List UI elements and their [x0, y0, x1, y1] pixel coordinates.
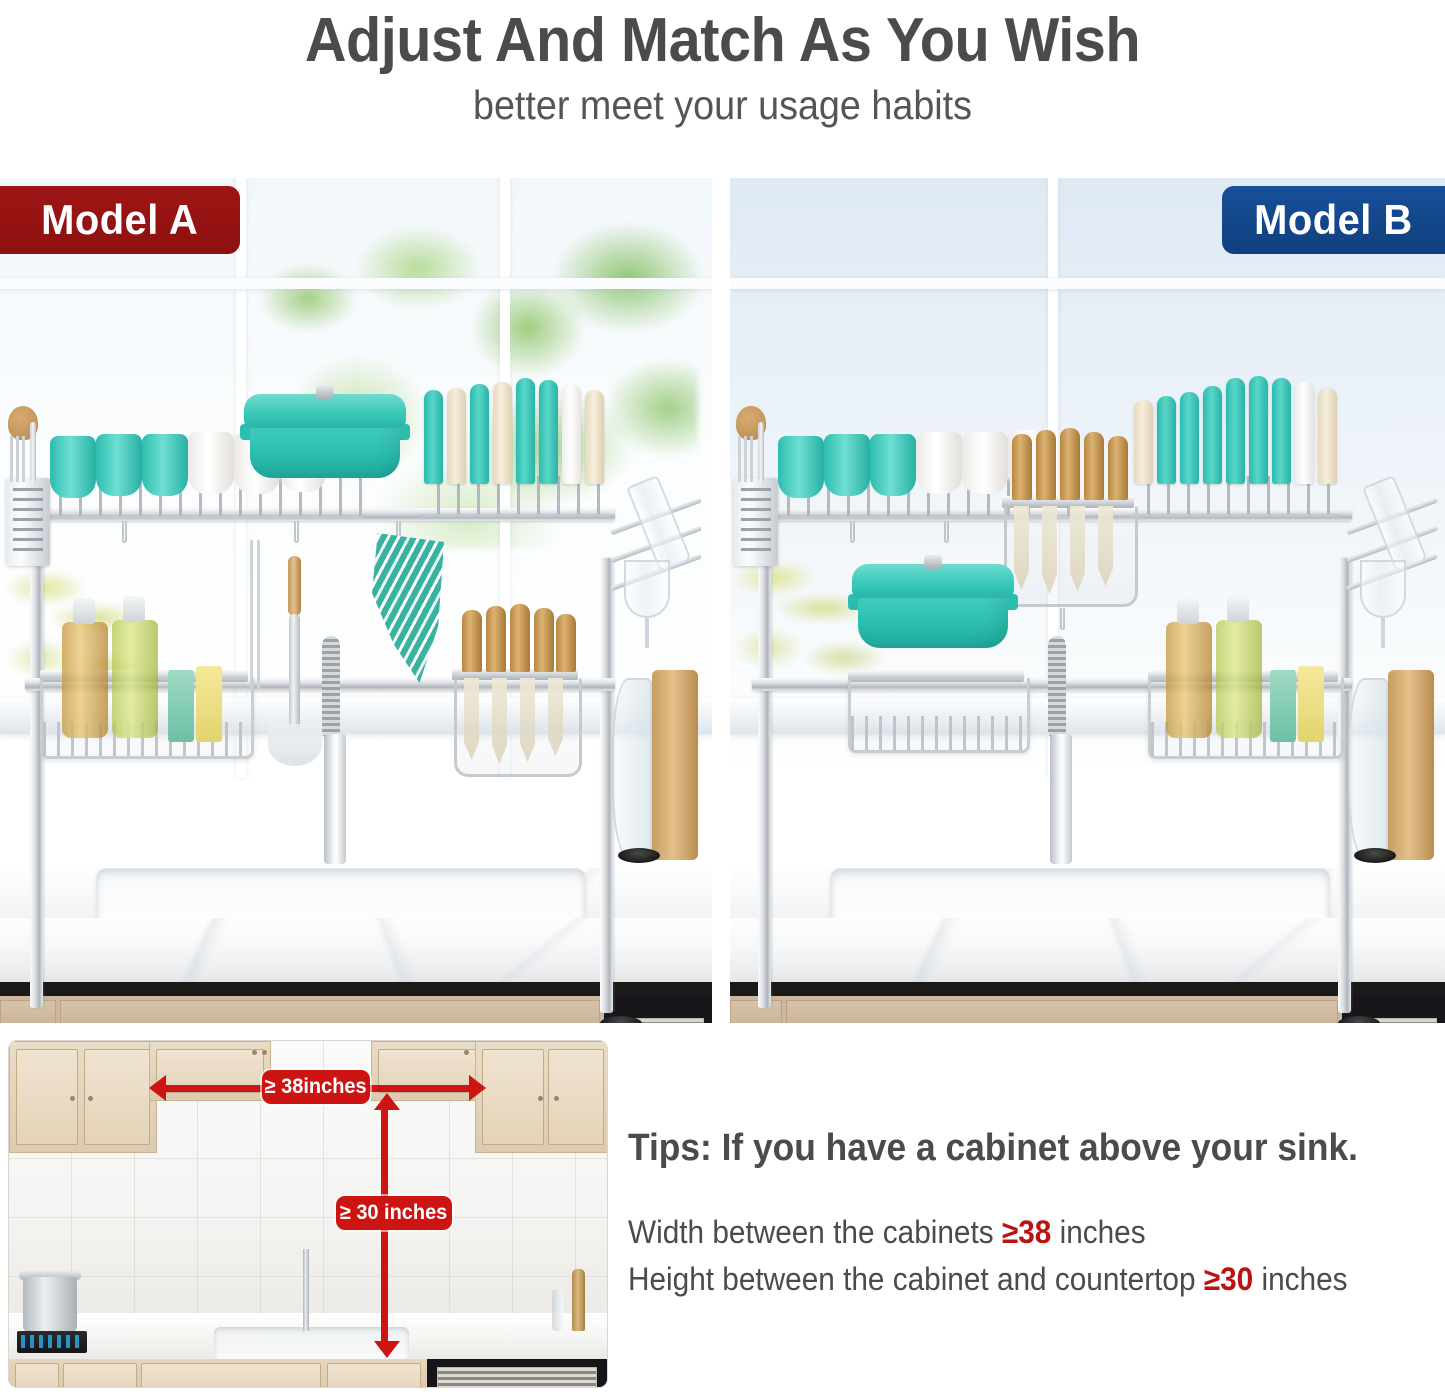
- pump-dispenser: [1227, 596, 1249, 622]
- cabinet-door: [482, 1049, 544, 1145]
- tips-title: Tips: If you have a cabinet above your s…: [628, 1127, 1381, 1170]
- knife-handle: [1036, 430, 1056, 500]
- knife-handle: [556, 614, 576, 672]
- plate-teal: [470, 384, 489, 484]
- model-a-photo: [0, 178, 712, 1023]
- bowl-teal: [142, 434, 188, 496]
- model-a-badge: Model A: [0, 186, 240, 254]
- pump-dispenser: [123, 596, 145, 622]
- bowl-teal: [824, 434, 870, 496]
- rack-leg-left: [758, 508, 771, 1008]
- wire-basket: [848, 678, 1030, 753]
- tips-height-line: Height between the cabinet and counterto…: [628, 1261, 1381, 1298]
- cabinet-door: [84, 1049, 150, 1145]
- pump-dispenser: [1177, 598, 1199, 624]
- plate-teal: [1203, 386, 1222, 484]
- utensil-holder: [6, 478, 50, 566]
- page-title: Adjust And Match As You Wish: [51, 4, 1395, 78]
- soap-bottle-amber: [1166, 622, 1212, 738]
- bowl-white: [962, 432, 1008, 494]
- soap-bottle-lime: [1216, 620, 1262, 738]
- wine-glass-stem: [645, 618, 649, 648]
- upper-cabinet-mid-left: [149, 1041, 271, 1101]
- model-b-photo: [730, 178, 1445, 1023]
- knife-handle: [1084, 432, 1104, 500]
- cabinet-door: [327, 1363, 421, 1388]
- cabinet-knob: [262, 1050, 267, 1055]
- width-measure-label: ≥ 38inches: [265, 1075, 367, 1099]
- model-b-panel: Model B: [730, 178, 1445, 1023]
- cabinet-knob: [252, 1050, 257, 1055]
- plate-cream: [1134, 400, 1153, 484]
- tips-height-suffix: inches: [1253, 1261, 1347, 1297]
- rack-leg-left: [30, 508, 43, 1008]
- ladle-wood-handle: [288, 556, 301, 616]
- sponge-green: [168, 670, 194, 742]
- tips-width-line: Width between the cabinets ≥38 inches: [628, 1214, 1381, 1251]
- bowl-teal: [870, 434, 916, 496]
- arrow-right-icon: [469, 1075, 486, 1101]
- knife-handle: [462, 610, 482, 672]
- tips-width-suffix: inches: [1051, 1214, 1145, 1250]
- arrow-up-icon: [374, 1093, 400, 1110]
- window-mullion: [730, 278, 1445, 289]
- pot-lid: [852, 564, 1014, 598]
- knife-handle: [1012, 434, 1032, 500]
- cabinet-door: [63, 1363, 137, 1388]
- cabinet-knob: [464, 1050, 469, 1055]
- bowl-white: [916, 432, 962, 494]
- cabinet-door: [16, 1049, 78, 1145]
- pot-knob: [924, 555, 942, 569]
- bowl-teal: [50, 436, 96, 498]
- teal-dutch-oven-pot: [858, 560, 1008, 678]
- height-measure-badge: ≥ 30 inches: [336, 1196, 452, 1230]
- tips-lines: Width between the cabinets ≥38 inches He…: [628, 1214, 1438, 1298]
- utensil-handle: [30, 422, 36, 482]
- soap-bottle-amber: [62, 622, 108, 738]
- plate-teal: [1180, 392, 1199, 484]
- arrow-down-icon: [374, 1341, 400, 1358]
- teal-dutch-oven-pot: [250, 390, 400, 508]
- plate-teal: [1157, 396, 1176, 484]
- knife-handle: [486, 606, 506, 672]
- plate-teal: [1226, 378, 1245, 484]
- upper-cabinet-left: [9, 1041, 157, 1153]
- header: Adjust And Match As You Wish better meet…: [0, 0, 1445, 172]
- knife-handle: [1060, 428, 1080, 500]
- pump-dispenser: [73, 598, 95, 624]
- faucet-spring-neck: [322, 636, 340, 740]
- cabinet-door: [141, 1363, 321, 1388]
- tips-height-prefix: Height between the cabinet and counterto…: [628, 1261, 1204, 1297]
- wine-glass-stem: [1381, 618, 1385, 648]
- fork-icon: [738, 436, 754, 482]
- cabinet-drawer: [60, 1000, 600, 1023]
- rack-hook: [1060, 608, 1065, 630]
- rack-hook: [944, 521, 949, 543]
- dishwasher-unit: [427, 1359, 607, 1388]
- ladle-bowl: [268, 724, 322, 766]
- wine-glass: [624, 560, 670, 618]
- dishwasher-vent: [437, 1367, 597, 1388]
- bowl-teal: [96, 434, 142, 496]
- plate-white: [562, 384, 581, 484]
- pot-lid: [244, 394, 406, 428]
- wine-glass: [1360, 560, 1406, 618]
- sponge-green: [1270, 670, 1296, 742]
- tips-height-value: ≥30: [1204, 1261, 1253, 1297]
- plate-teal: [1272, 378, 1291, 484]
- tips-width-prefix: Width between the cabinets: [628, 1214, 1002, 1250]
- model-a-label: Model A: [41, 196, 198, 244]
- tips-section: ≥ 38inches ≥ 30 inches Tips: If you have…: [0, 1035, 1445, 1394]
- tips-width-value: ≥38: [1002, 1214, 1051, 1250]
- width-measure-badge: ≥ 38inches: [262, 1070, 370, 1104]
- faucet-body: [1050, 734, 1072, 864]
- pepper-grinder: [572, 1269, 585, 1331]
- gas-flame: [21, 1335, 79, 1348]
- model-b-label: Model B: [1254, 196, 1412, 244]
- ladle-handle: [289, 614, 300, 730]
- utensil-handle: [758, 422, 764, 482]
- plate-teal: [424, 390, 443, 484]
- pot-knob: [316, 385, 334, 399]
- model-a-panel: Model A: [0, 178, 712, 1023]
- fork-icon: [10, 436, 26, 482]
- knife-handle: [1108, 436, 1128, 500]
- glass-cutting-board: [1348, 678, 1388, 858]
- plate-teal: [1249, 376, 1268, 484]
- cabinet-knob: [88, 1096, 93, 1101]
- soap-bottle-lime: [112, 620, 158, 738]
- rack-hook: [850, 521, 855, 543]
- plate-cream: [493, 382, 512, 484]
- rack-hook: [122, 521, 127, 543]
- plate-white: [1295, 382, 1314, 484]
- faucet-body: [324, 734, 346, 864]
- cabinet-knob: [554, 1096, 559, 1101]
- plate-teal: [539, 380, 558, 484]
- upper-cabinet-right: [475, 1041, 608, 1153]
- rack-foot: [618, 848, 660, 863]
- cabinet-drawer: [730, 1000, 782, 1023]
- arrow-left-icon: [149, 1075, 166, 1101]
- cabinet-door: [15, 1363, 59, 1388]
- plate-cream: [447, 388, 466, 484]
- cabinet-knob: [538, 1096, 543, 1101]
- tips-text-block: Tips: If you have a cabinet above your s…: [628, 1127, 1438, 1298]
- faucet-spring-neck: [1048, 636, 1066, 740]
- stock-pot: [23, 1277, 77, 1333]
- cabinet-drawer: [786, 1000, 1338, 1023]
- window-mullion: [0, 278, 712, 289]
- plate-teal: [516, 378, 535, 484]
- kitchen-tongs: [244, 540, 266, 690]
- model-b-badge: Model B: [1222, 186, 1445, 254]
- wood-cutting-board: [652, 670, 698, 860]
- page-subtitle: better meet your usage habits: [58, 80, 1387, 130]
- plate-cream: [1318, 388, 1337, 484]
- cabinet-knob: [70, 1096, 75, 1101]
- knife-handle: [534, 608, 554, 672]
- height-measure-label: ≥ 30 inches: [340, 1201, 447, 1225]
- plate-cream: [585, 390, 604, 484]
- rack-foot: [1354, 848, 1396, 863]
- glass-cutting-board: [612, 678, 652, 858]
- utensil-holder: [734, 478, 778, 566]
- upper-cabinet-mid-right: [371, 1041, 483, 1101]
- model-comparison-panels: Model A: [0, 178, 1445, 1023]
- wood-cutting-board: [1388, 670, 1434, 860]
- kitchen-measurement-photo: ≥ 38inches ≥ 30 inches: [8, 1040, 608, 1388]
- knife-handle: [510, 604, 530, 672]
- sponge-yellow: [1298, 666, 1324, 742]
- bowl-teal: [778, 436, 824, 498]
- rack-hook: [294, 521, 299, 543]
- bowl-white: [188, 432, 234, 494]
- sponge-yellow: [196, 666, 222, 742]
- kitchen-faucet: [303, 1249, 309, 1331]
- salt-shaker: [552, 1289, 563, 1331]
- cabinet-drawer: [0, 1000, 56, 1023]
